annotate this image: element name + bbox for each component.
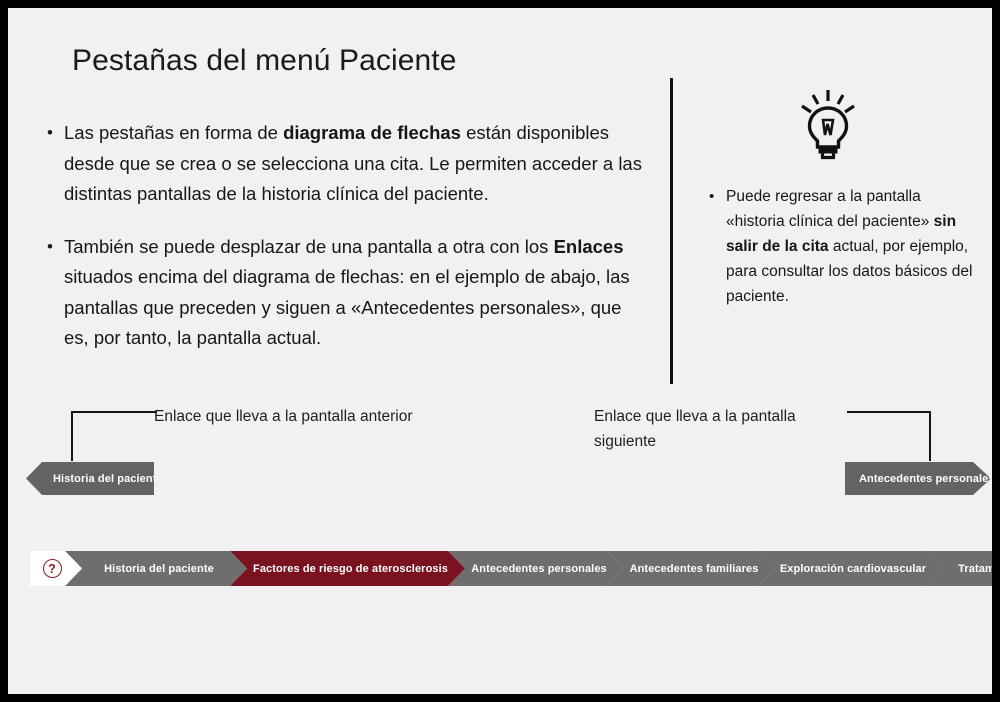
bullet-marker-icon: • — [42, 232, 64, 262]
breadcrumb-step-label: Tratamientos — [958, 563, 992, 575]
plain-text: Las pestañas en forma de — [64, 122, 283, 143]
slide-frame: Pestañas del menú Paciente •Las pestañas… — [0, 0, 1000, 702]
left-bullet-text: Las pestañas en forma de diagrama de fle… — [64, 118, 650, 210]
connector-horizontal-segment — [847, 411, 931, 413]
page-title: Pestañas del menú Paciente — [72, 44, 457, 78]
annotation-previous-link: Enlace que lleva a la pantalla anterior — [154, 404, 454, 429]
connector-elbow-previous — [71, 411, 157, 461]
example-tab-next-label: Antecedentes personales — [859, 473, 992, 485]
lightbulb-icon — [796, 88, 860, 160]
example-tab-previous-screen[interactable]: Historia del paciente — [26, 462, 154, 495]
connector-vertical-segment — [71, 411, 73, 461]
left-bullet-item: •También se puede desplazar de una panta… — [42, 232, 650, 354]
breadcrumb-step-label: Antecedentes familiares — [630, 563, 759, 575]
connector-horizontal-segment — [71, 411, 157, 413]
breadcrumb-step[interactable]: Exploración cardiovascular — [758, 551, 942, 586]
plain-text: También se puede desplazar de una pantal… — [64, 236, 554, 257]
breadcrumb-step-label: Factores de riesgo de aterosclerosis — [253, 563, 448, 575]
left-bullet-text: También se puede desplazar de una pantal… — [64, 232, 650, 354]
breadcrumb: ? Historia del pacienteFactores de riesg… — [30, 551, 981, 586]
left-bullet-list: •Las pestañas en forma de diagrama de fl… — [42, 118, 650, 376]
question-mark-icon: ? — [43, 559, 62, 578]
breadcrumb-step[interactable]: Factores de riesgo de aterosclerosis — [230, 551, 465, 586]
right-tip-text: Puede regresar a la pantalla «historia c… — [726, 184, 974, 309]
right-tip-item: •Puede regresar a la pantalla «historia … — [706, 184, 974, 309]
plain-text: situados encima del diagrama de flechas:… — [64, 266, 630, 348]
emphasis-text: Enlaces — [554, 236, 624, 257]
plain-text: Puede regresar a la pantalla «historia c… — [726, 188, 934, 230]
breadcrumb-step[interactable]: Historia del paciente — [65, 551, 247, 586]
right-tip-list: •Puede regresar a la pantalla «historia … — [706, 184, 974, 331]
breadcrumb-step[interactable]: Antecedentes personales — [448, 551, 624, 586]
left-bullet-item: •Las pestañas en forma de diagrama de fl… — [42, 118, 650, 210]
breadcrumb-step[interactable]: Antecedentes familiares — [607, 551, 775, 586]
bullet-marker-icon: • — [706, 184, 726, 209]
annotation-next-link: Enlace que lleva a la pantalla siguiente — [594, 404, 824, 454]
connector-vertical-segment — [929, 411, 931, 461]
breadcrumb-step-label: Exploración cardiovascular — [780, 563, 926, 575]
breadcrumb-step-label: Antecedentes personales — [471, 563, 607, 575]
example-tab-previous-label: Historia del paciente — [53, 473, 163, 485]
example-tab-next-screen[interactable]: Antecedentes personales — [845, 462, 991, 495]
connector-elbow-next — [847, 411, 931, 461]
bullet-marker-icon: • — [42, 118, 64, 148]
breadcrumb-step-label: Historia del paciente — [104, 563, 214, 575]
slide-canvas: Pestañas del menú Paciente •Las pestañas… — [8, 8, 992, 694]
vertical-divider — [670, 78, 673, 384]
emphasis-text: diagrama de flechas — [283, 122, 461, 143]
